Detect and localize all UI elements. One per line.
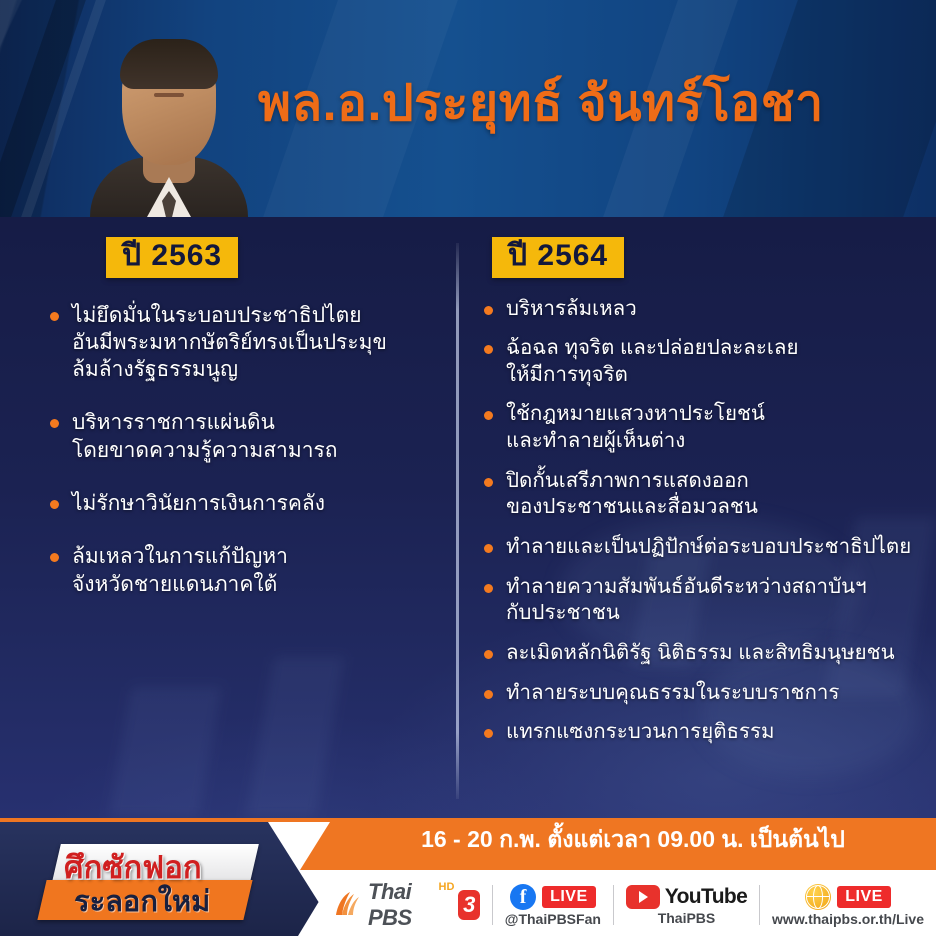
- year-badge-wrap-2563: ปี 2563: [106, 237, 440, 278]
- bullet-icon: [50, 312, 59, 321]
- website-live-badge: LIVE: [837, 886, 891, 908]
- list-item: ฉ้อฉล ทุจริต และปล่อยปละละเลยให้มีการทุจ…: [480, 335, 920, 388]
- bullet-icon: [484, 690, 493, 699]
- facebook-live-badge: LIVE: [542, 886, 596, 908]
- list-item: บริหารล้มเหลว: [480, 296, 920, 323]
- portrait-photo: [96, 17, 242, 217]
- year-badge-wrap-2564: ปี 2564: [492, 237, 920, 278]
- year-badge-2563: ปี 2563: [106, 237, 238, 278]
- list-item: แทรกแซงกระบวนการยุติธรรม: [480, 719, 920, 746]
- youtube-handle: ThaiPBS: [658, 910, 716, 926]
- list-item: ไม่ยึดมั่นในระบอบประชาธิปไตยอันมีพระมหาก…: [46, 302, 440, 384]
- column-2564: ปี 2564 บริหารล้มเหลวฉ้อฉล ทุจริต และปล่…: [480, 217, 920, 759]
- broadcast-schedule: 16 - 20 ก.พ. ตั้งแต่เวลา 09.00 น. เป็นต้…: [338, 828, 928, 851]
- bullet-icon: [484, 411, 493, 420]
- bullet-icon: [484, 345, 493, 354]
- list-item: ล้มเหลวในการแก้ปัญหาจังหวัดชายแดนภาคใต้: [46, 543, 440, 598]
- infographic-page: พล.อ.ประยุทธ์ จันทร์โอชา ปี 2563 ไม่ยึดม…: [0, 0, 936, 936]
- thaipbs-wordmark: Thai PBS: [368, 879, 435, 931]
- portrait-hair: [120, 39, 218, 89]
- youtube-logo[interactable]: YouTube ThaiPBS: [614, 879, 760, 931]
- list-item-text: บริหารราชการแผ่นดินโดยขาดความรู้ความสามา…: [72, 411, 337, 461]
- facebook-icon: f: [510, 884, 536, 910]
- channel-number-badge: 3: [458, 890, 480, 920]
- list-item: ทำลายและเป็นปฏิปักษ์ต่อระบอบประชาธิปไตย: [480, 534, 920, 561]
- show-logo: ศึกซักฟอก ระลอกใหม่: [42, 844, 272, 918]
- list-item: ไม่รักษาวินัยการเงินการคลัง: [46, 490, 440, 517]
- year-badge-2564: ปี 2564: [492, 237, 624, 278]
- list-item-text: ฉ้อฉล ทุจริต และปล่อยปละละเลยให้มีการทุจ…: [506, 336, 798, 386]
- page-title: พล.อ.ประยุทธ์ จันทร์โอชา: [258, 78, 918, 128]
- content-area: ปี 2563 ไม่ยึดมั่นในระบอบประชาธิปไตยอันม…: [0, 217, 936, 818]
- portrait-mouth: [154, 93, 184, 97]
- list-item: ทำลายความสัมพันธ์อันดีระหว่างสถาบันฯกับป…: [480, 574, 920, 627]
- list-item: ใช้กฎหมายแสวงหาประโยชน์และทำลายผู้เห็นต่…: [480, 401, 920, 454]
- facebook-handle: @ThaiPBSFan: [505, 911, 601, 927]
- list-item-text: ล้มเหลวในการแก้ปัญหาจังหวัดชายแดนภาคใต้: [72, 545, 288, 595]
- thaipbs-logo: Thai PBS HD 3: [320, 879, 492, 931]
- bullet-icon: [484, 478, 493, 487]
- list-item-text: บริหารล้มเหลว: [506, 297, 637, 320]
- column-divider: [456, 243, 459, 799]
- hd-badge: HD: [439, 881, 455, 893]
- list-item-text: แทรกแซงกระบวนการยุติธรรม: [506, 720, 775, 743]
- bullet-icon: [484, 544, 493, 553]
- show-title-bottom: ระลอกใหม่: [74, 878, 274, 924]
- bullet-icon: [484, 650, 493, 659]
- list-item-text: ทำลายระบบคุณธรรมในระบบราชการ: [506, 681, 839, 704]
- column-2563: ปี 2563 ไม่ยึดมั่นในระบอบประชาธิปไตยอันม…: [40, 217, 440, 624]
- bullet-icon: [50, 419, 59, 428]
- footer-bar: ศึกซักฟอก ระลอกใหม่ 16 - 20 ก.พ. ตั้งแต่…: [0, 818, 936, 936]
- list-item-text: ทำลายความสัมพันธ์อันดีระหว่างสถาบันฯกับป…: [506, 575, 867, 625]
- list-item-text: ทำลายและเป็นปฏิปักษ์ต่อระบอบประชาธิปไตย: [506, 535, 911, 558]
- bullet-icon: [484, 584, 493, 593]
- website-live-logo[interactable]: LIVE www.thaipbs.or.th/Live: [760, 879, 936, 931]
- thaipbs-flame-icon: [332, 889, 364, 921]
- header-banner: พล.อ.ประยุทธ์ จันทร์โอชา: [0, 0, 936, 217]
- list-item: บริหารราชการแผ่นดินโดยขาดความรู้ความสามา…: [46, 409, 440, 464]
- bullet-icon: [484, 306, 493, 315]
- list-item: ละเมิดหลักนิติรัฐ นิติธรรม และสิทธิมนุษย…: [480, 640, 920, 667]
- list-item-text: ไม่รักษาวินัยการเงินการคลัง: [72, 492, 325, 515]
- background-decor: [109, 687, 222, 817]
- list-item-text: ไม่ยึดมั่นในระบอบประชาธิปไตยอันมีพระมหาก…: [72, 304, 387, 382]
- bullet-icon: [50, 553, 59, 562]
- youtube-wordmark: YouTube: [665, 885, 748, 909]
- website-url: www.thaipbs.or.th/Live: [772, 911, 924, 927]
- points-list-2564: บริหารล้มเหลวฉ้อฉล ทุจริต และปล่อยปละละเ…: [480, 296, 920, 746]
- list-item-text: ปิดกั้นเสรีภาพการแสดงออกของประชาชนและสื่…: [506, 469, 758, 519]
- list-item-text: ละเมิดหลักนิติรัฐ นิติธรรม และสิทธิมนุษย…: [506, 641, 895, 664]
- list-item: ทำลายระบบคุณธรรมในระบบราชการ: [480, 680, 920, 707]
- globe-icon: [805, 884, 831, 910]
- header-streak: [0, 0, 100, 217]
- bullet-icon: [484, 729, 493, 738]
- facebook-live-logo[interactable]: f LIVE @ThaiPBSFan: [493, 879, 613, 931]
- bullet-icon: [50, 500, 59, 509]
- background-decor: [246, 657, 344, 817]
- youtube-play-icon: [626, 885, 660, 909]
- list-item-text: ใช้กฎหมายแสวงหาประโยชน์และทำลายผู้เห็นต่…: [506, 402, 765, 452]
- channel-logo-row: Thai PBS HD 3 f LIVE @ThaiPBSFan: [320, 876, 936, 934]
- footer-top-rule: [0, 818, 936, 822]
- list-item: ปิดกั้นเสรีภาพการแสดงออกของประชาชนและสื่…: [480, 468, 920, 521]
- points-list-2563: ไม่ยึดมั่นในระบอบประชาธิปไตยอันมีพระมหาก…: [46, 302, 440, 598]
